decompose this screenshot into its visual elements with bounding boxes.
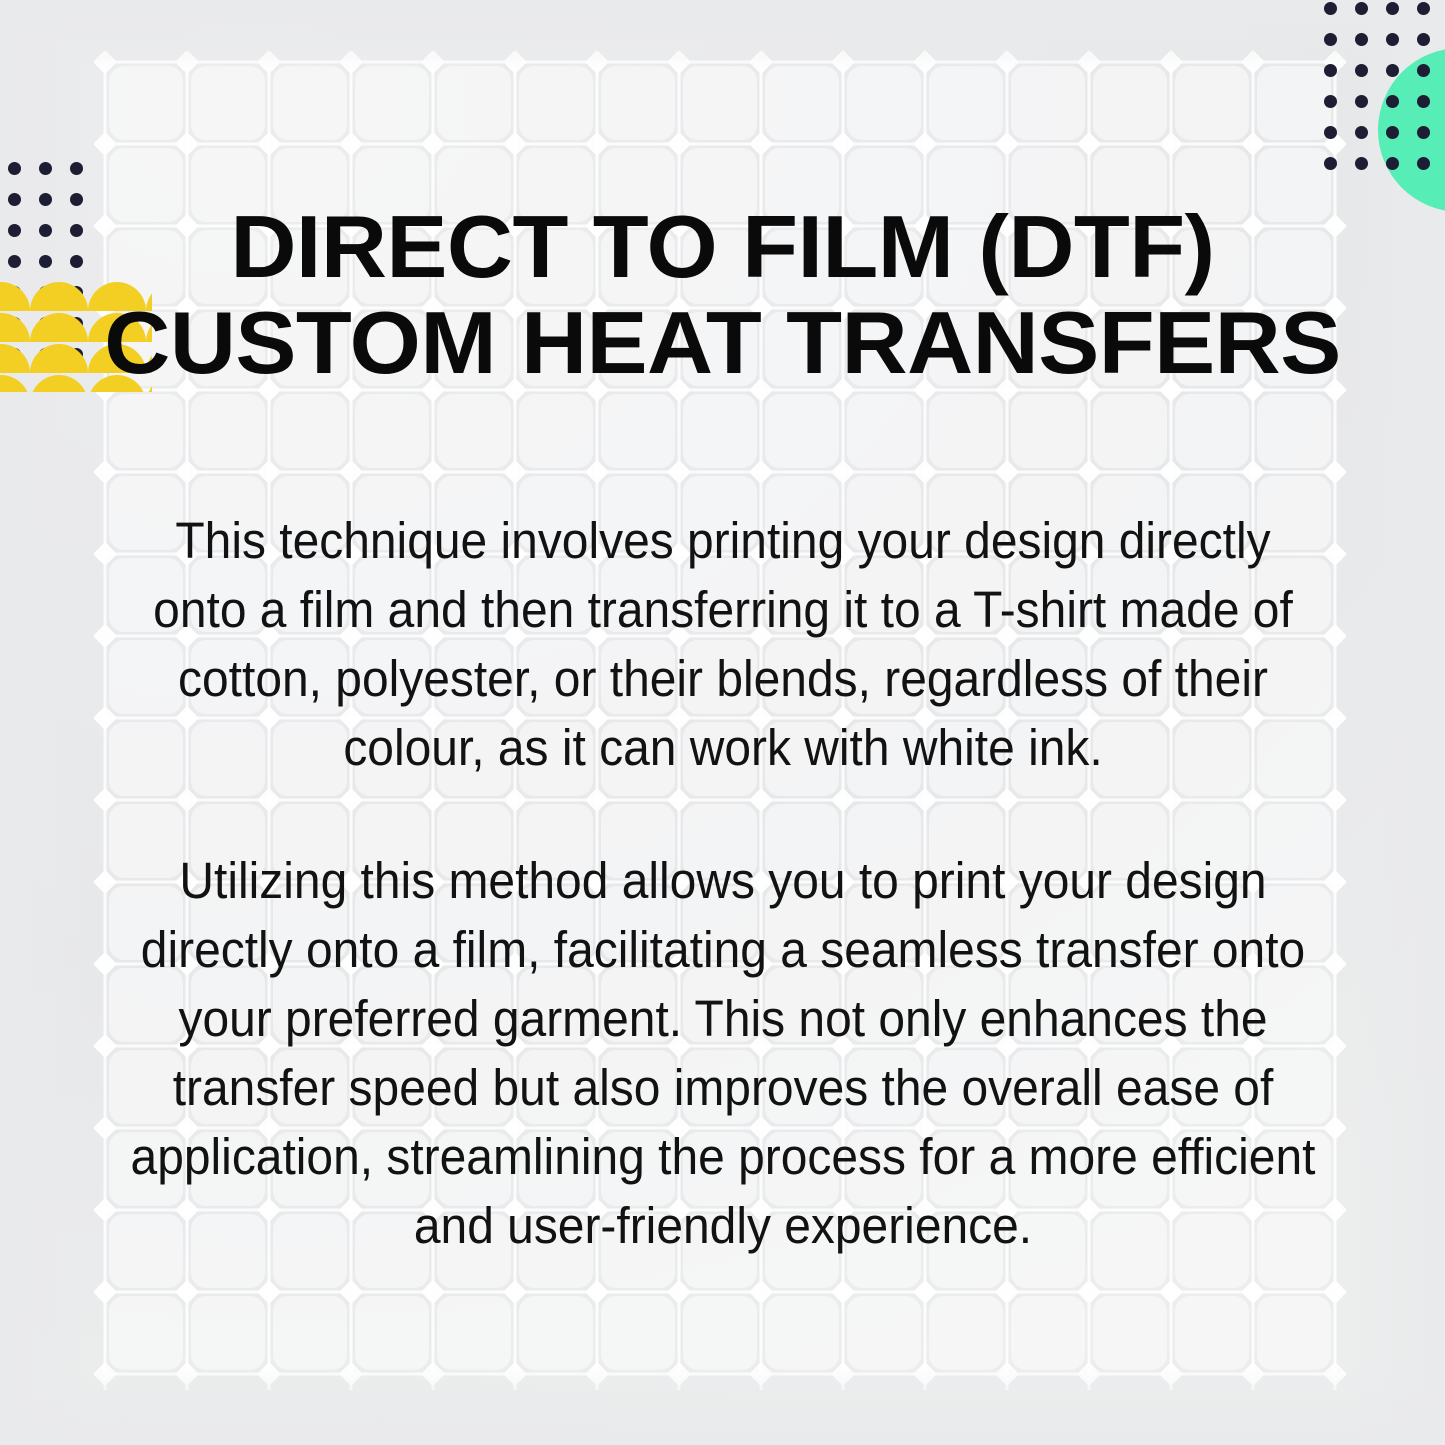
grid-node-diamond <box>93 706 117 730</box>
decorative-dot <box>1417 33 1430 46</box>
grid-line-horizontal <box>105 143 1345 146</box>
grid-tile <box>765 394 839 468</box>
decorative-dot <box>70 255 83 268</box>
grid-node-diamond <box>749 132 773 156</box>
grid-node-diamond <box>1323 624 1347 648</box>
grid-node-diamond <box>913 50 937 74</box>
yellow-semicircle <box>30 344 88 373</box>
grid-tile <box>1011 66 1085 140</box>
decorative-dot <box>1355 157 1368 170</box>
grid-node-diamond <box>1159 1362 1183 1386</box>
grid-node-diamond <box>1241 460 1265 484</box>
grid-node-diamond <box>1241 50 1265 74</box>
grid-tile <box>109 66 183 140</box>
decorative-dot <box>1417 64 1430 77</box>
grid-tile <box>765 1296 839 1370</box>
grid-tile <box>437 394 511 468</box>
grid-node-diamond <box>1159 788 1183 812</box>
grid-tile <box>1257 394 1331 468</box>
decorative-dot <box>1355 2 1368 15</box>
grid-tile <box>355 66 429 140</box>
decorative-dot <box>1324 95 1337 108</box>
grid-node-diamond <box>913 132 937 156</box>
grid-line-horizontal <box>105 799 1345 802</box>
grid-node-diamond <box>1077 788 1101 812</box>
grid-node-diamond <box>667 460 691 484</box>
grid-node-diamond <box>93 50 117 74</box>
grid-node-diamond <box>749 788 773 812</box>
decorative-dot <box>1386 157 1399 170</box>
grid-tile <box>273 394 347 468</box>
grid-node-diamond <box>93 1116 117 1140</box>
decorative-dot <box>1324 157 1337 170</box>
yellow-semicircle <box>0 344 30 373</box>
grid-node-diamond <box>421 788 445 812</box>
decorative-dot <box>1355 126 1368 139</box>
grid-node-diamond <box>339 788 363 812</box>
decorative-dot <box>1324 64 1337 77</box>
grid-node-diamond <box>1323 1198 1347 1222</box>
yellow-semicircle <box>30 282 88 311</box>
decorative-dot <box>1355 95 1368 108</box>
grid-tile <box>683 1296 757 1370</box>
grid-node-diamond <box>503 1362 527 1386</box>
decorative-dot <box>39 162 52 175</box>
decorative-dot <box>1386 95 1399 108</box>
decorative-dot <box>1417 2 1430 15</box>
grid-tile <box>273 1296 347 1370</box>
yellow-semicircle <box>0 282 30 311</box>
grid-node-diamond <box>585 788 609 812</box>
grid-node-diamond <box>421 1280 445 1304</box>
grid-node-diamond <box>93 788 117 812</box>
grid-node-diamond <box>93 1198 117 1222</box>
grid-node-diamond <box>93 952 117 976</box>
grid-tile <box>519 394 593 468</box>
grid-node-diamond <box>1323 788 1347 812</box>
yellow-semicircle <box>0 375 30 392</box>
decorative-dot <box>1355 64 1368 77</box>
body-paragraph-2: Utilizing this method allows you to prin… <box>130 846 1316 1260</box>
grid-tile <box>929 66 1003 140</box>
decorative-dot <box>1324 2 1337 15</box>
decorative-dot <box>1355 33 1368 46</box>
grid-tile <box>1093 394 1167 468</box>
grid-line-horizontal <box>105 61 1345 64</box>
grid-node-diamond <box>1323 1034 1347 1058</box>
grid-node-diamond <box>93 870 117 894</box>
decorative-dot <box>8 255 21 268</box>
grid-node-diamond <box>1323 460 1347 484</box>
grid-node-diamond <box>175 1362 199 1386</box>
decorative-dot <box>1417 157 1430 170</box>
grid-node-diamond <box>503 50 527 74</box>
grid-node-diamond <box>339 50 363 74</box>
grid-node-diamond <box>585 1362 609 1386</box>
grid-node-diamond <box>913 1280 937 1304</box>
grid-node-diamond <box>1077 460 1101 484</box>
grid-node-diamond <box>503 1280 527 1304</box>
grid-node-diamond <box>257 460 281 484</box>
grid-node-diamond <box>421 460 445 484</box>
grid-tile <box>765 66 839 140</box>
grid-tile <box>1093 66 1167 140</box>
grid-line-horizontal <box>105 1373 1345 1376</box>
grid-node-diamond <box>1077 1280 1101 1304</box>
grid-tile <box>519 1296 593 1370</box>
grid-tile <box>191 394 265 468</box>
grid-node-diamond <box>175 788 199 812</box>
grid-node-diamond <box>1077 132 1101 156</box>
decorative-dot <box>39 193 52 206</box>
grid-node-diamond <box>913 460 937 484</box>
grid-node-diamond <box>831 1362 855 1386</box>
grid-node-diamond <box>421 132 445 156</box>
grid-node-diamond <box>503 132 527 156</box>
yellow-semicircle <box>30 313 88 342</box>
grid-tile <box>191 1296 265 1370</box>
grid-node-diamond <box>995 460 1019 484</box>
grid-node-diamond <box>585 1280 609 1304</box>
grid-node-diamond <box>1241 132 1265 156</box>
grid-node-diamond <box>913 788 937 812</box>
grid-node-diamond <box>257 50 281 74</box>
grid-node-diamond <box>1159 132 1183 156</box>
grid-node-diamond <box>1323 870 1347 894</box>
grid-line-horizontal <box>105 1291 1345 1294</box>
grid-node-diamond <box>175 1280 199 1304</box>
grid-node-diamond <box>1159 1280 1183 1304</box>
grid-node-diamond <box>257 1280 281 1304</box>
grid-node-diamond <box>749 1362 773 1386</box>
grid-node-diamond <box>421 50 445 74</box>
grid-tile <box>929 394 1003 468</box>
grid-node-diamond <box>1159 460 1183 484</box>
decorative-dot <box>1386 64 1399 77</box>
decorative-dot <box>39 224 52 237</box>
grid-node-diamond <box>585 132 609 156</box>
grid-tile <box>1175 1296 1249 1370</box>
decorative-dot <box>8 193 21 206</box>
grid-tile <box>1093 1296 1167 1370</box>
grid-node-diamond <box>93 1280 117 1304</box>
grid-node-diamond <box>1077 1362 1101 1386</box>
grid-node-diamond <box>93 132 117 156</box>
grid-tile <box>273 66 347 140</box>
decorative-dot <box>1386 126 1399 139</box>
grid-node-diamond <box>257 1362 281 1386</box>
decorative-dot <box>1386 33 1399 46</box>
grid-node-diamond <box>1077 50 1101 74</box>
grid-tile <box>847 1296 921 1370</box>
grid-node-diamond <box>1241 1362 1265 1386</box>
grid-node-diamond <box>93 460 117 484</box>
grid-tile <box>437 1296 511 1370</box>
grid-node-diamond <box>503 460 527 484</box>
grid-node-diamond <box>93 1362 117 1386</box>
grid-node-diamond <box>93 542 117 566</box>
grid-tile <box>1011 1296 1085 1370</box>
grid-node-diamond <box>1241 1280 1265 1304</box>
grid-node-diamond <box>339 460 363 484</box>
grid-node-diamond <box>995 1280 1019 1304</box>
decorative-dot <box>70 162 83 175</box>
grid-tile <box>929 1296 1003 1370</box>
grid-node-diamond <box>831 788 855 812</box>
decorative-dot <box>1386 2 1399 15</box>
grid-node-diamond <box>749 1280 773 1304</box>
grid-tile <box>109 394 183 468</box>
grid-node-diamond <box>1323 542 1347 566</box>
grid-node-diamond <box>339 1280 363 1304</box>
grid-tile <box>519 66 593 140</box>
grid-tile <box>437 66 511 140</box>
grid-node-diamond <box>585 50 609 74</box>
decorative-dot <box>1324 33 1337 46</box>
grid-node-diamond <box>257 788 281 812</box>
grid-tile <box>1175 66 1249 140</box>
grid-node-diamond <box>667 50 691 74</box>
grid-node-diamond <box>995 50 1019 74</box>
decorative-dot <box>70 193 83 206</box>
grid-node-diamond <box>667 1362 691 1386</box>
grid-node-diamond <box>995 788 1019 812</box>
grid-node-diamond <box>831 132 855 156</box>
yellow-semicircle <box>30 375 88 392</box>
grid-node-diamond <box>831 1280 855 1304</box>
grid-node-diamond <box>1323 1280 1347 1304</box>
grid-node-diamond <box>175 50 199 74</box>
grid-node-diamond <box>1159 50 1183 74</box>
grid-tile <box>1257 66 1331 140</box>
grid-tile <box>355 394 429 468</box>
grid-tile <box>683 66 757 140</box>
grid-node-diamond <box>667 1280 691 1304</box>
grid-tile <box>109 1296 183 1370</box>
grid-node-diamond <box>749 460 773 484</box>
grid-node-diamond <box>257 132 281 156</box>
grid-node-diamond <box>995 1362 1019 1386</box>
grid-node-diamond <box>93 1034 117 1058</box>
grid-node-diamond <box>1241 788 1265 812</box>
grid-node-diamond <box>749 50 773 74</box>
decorative-dot <box>1417 95 1430 108</box>
grid-node-diamond <box>1323 1116 1347 1140</box>
grid-tile <box>355 1296 429 1370</box>
decorative-dot <box>39 255 52 268</box>
grid-node-diamond <box>1323 706 1347 730</box>
grid-node-diamond <box>175 460 199 484</box>
decorative-dot <box>70 224 83 237</box>
grid-tile <box>847 394 921 468</box>
grid-tile <box>1175 394 1249 468</box>
grid-line-horizontal <box>105 471 1345 474</box>
grid-tile <box>847 66 921 140</box>
grid-node-diamond <box>175 132 199 156</box>
grid-tile <box>1257 1296 1331 1370</box>
grid-node-diamond <box>831 460 855 484</box>
grid-tile <box>191 66 265 140</box>
yellow-semicircle <box>0 313 30 342</box>
grid-node-diamond <box>421 1362 445 1386</box>
decorative-dot <box>8 224 21 237</box>
decorative-dot <box>8 162 21 175</box>
decorative-dot <box>1417 126 1430 139</box>
grid-node-diamond <box>585 460 609 484</box>
page-title: DIRECT TO FILM (DTF) CUSTOM HEAT TRANSFE… <box>86 199 1360 391</box>
body-paragraph-1: This technique involves printing your de… <box>130 506 1316 782</box>
grid-tile <box>601 394 675 468</box>
grid-tile <box>683 394 757 468</box>
grid-node-diamond <box>1323 1362 1347 1386</box>
grid-node-diamond <box>831 50 855 74</box>
grid-node-diamond <box>1323 952 1347 976</box>
grid-node-diamond <box>667 788 691 812</box>
grid-node-diamond <box>995 132 1019 156</box>
grid-node-diamond <box>339 1362 363 1386</box>
decorative-dot <box>1324 126 1337 139</box>
grid-node-diamond <box>667 132 691 156</box>
grid-node-diamond <box>93 624 117 648</box>
grid-node-diamond <box>913 1362 937 1386</box>
grid-tile <box>1011 394 1085 468</box>
grid-tile <box>601 1296 675 1370</box>
grid-node-diamond <box>339 132 363 156</box>
grid-tile <box>601 66 675 140</box>
poster-canvas: DIRECT TO FILM (DTF) CUSTOM HEAT TRANSFE… <box>0 0 1445 1445</box>
grid-node-diamond <box>503 788 527 812</box>
